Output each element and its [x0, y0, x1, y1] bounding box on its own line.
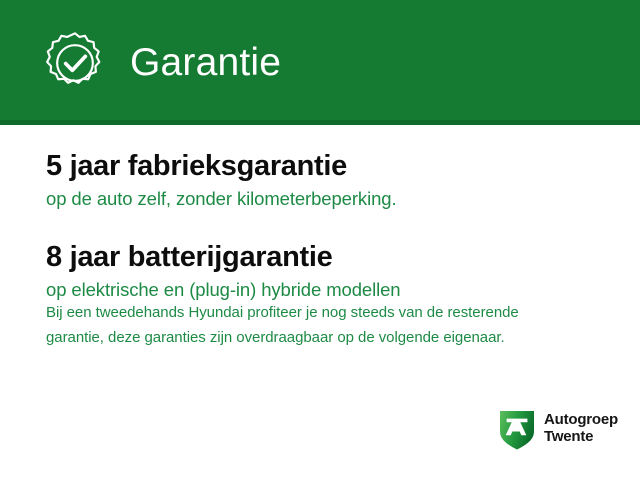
warranty-subtitle: op de auto zelf, zonder kilometerbeperki… — [46, 188, 616, 210]
warranty-heading: 5 jaar fabrieksgarantie — [46, 150, 616, 182]
banner-title: Garantie — [130, 43, 281, 82]
autogroep-twente-logo: Autogroep Twente — [498, 408, 618, 450]
note-line-1: Bij een tweedehands Hyundai profiteer je… — [46, 301, 612, 325]
shield-logo-icon — [498, 408, 536, 450]
warranty-block-factory: 5 jaar fabrieksgarantie op de auto zelf,… — [46, 150, 616, 211]
logo-line-2: Twente — [544, 429, 618, 446]
verified-badge-check-icon — [42, 30, 108, 96]
note-line-2: garantie, deze garanties zijn overdraagb… — [46, 326, 612, 350]
warranty-block-battery: 8 jaar batterijgarantie op elektrische e… — [46, 241, 616, 302]
warranty-content: 5 jaar fabrieksgarantie op de auto zelf,… — [46, 150, 616, 350]
warranty-subtitle: op elektrische en (plug-in) hybride mode… — [46, 279, 616, 301]
logo-wordmark: Autogroep Twente — [544, 412, 618, 446]
garantie-info-card: Garantie 5 jaar fabrieksgarantie op de a… — [0, 0, 640, 480]
banner-bottom-edge — [0, 120, 640, 125]
header-banner: Garantie — [0, 0, 640, 125]
warranty-heading: 8 jaar batterijgarantie — [46, 241, 616, 273]
logo-line-1: Autogroep — [544, 412, 618, 429]
warranty-transfer-note: Bij een tweedehands Hyundai profiteer je… — [46, 301, 612, 350]
